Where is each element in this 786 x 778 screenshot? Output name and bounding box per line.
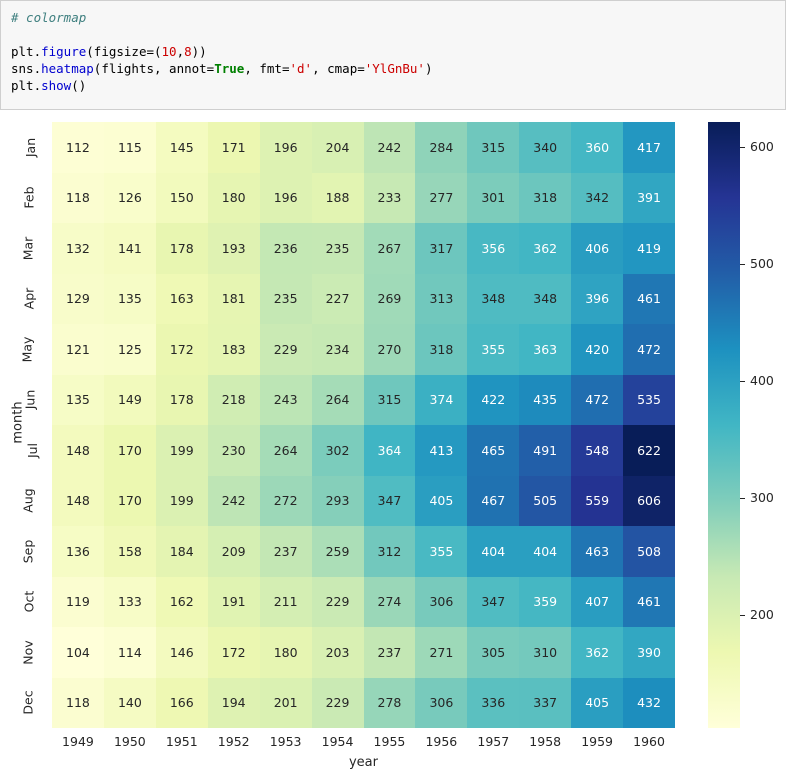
- heatmap-cell: 356: [467, 223, 519, 274]
- heatmap-cell: 121: [52, 324, 104, 375]
- heatmap-cell: 559: [571, 476, 623, 527]
- y-tick-jun: Jun: [0, 375, 46, 426]
- colorbar-tick-label: 400: [750, 375, 774, 388]
- colorbar-tick-label: 600: [750, 141, 774, 154]
- heatmap-cell: 145: [156, 122, 208, 173]
- heatmap-cell: 548: [571, 425, 623, 476]
- heatmap-cell: 243: [260, 375, 312, 426]
- heatmap-cell: 115: [104, 122, 156, 173]
- heatmap-cell: 270: [364, 324, 416, 375]
- heatmap-cell: 209: [208, 526, 260, 577]
- colorbar-tick-label: 500: [750, 258, 774, 271]
- heatmap-cell: 310: [519, 627, 571, 678]
- heatmap-cell: 211: [260, 577, 312, 628]
- heatmap-cell: 405: [571, 678, 623, 729]
- heatmap-cell: 340: [519, 122, 571, 173]
- heatmap-cell: 463: [571, 526, 623, 577]
- heatmap-cell: 140: [104, 678, 156, 729]
- heatmap-cell: 301: [467, 173, 519, 224]
- heatmap-cell: 199: [156, 476, 208, 527]
- flights-args-token: (flights, annot=: [94, 61, 214, 76]
- x-tick-1954: 1954: [312, 730, 364, 752]
- y-tick-mar: Mar: [0, 223, 46, 274]
- heatmap-cell: 236: [260, 223, 312, 274]
- heatmap-cell: 355: [467, 324, 519, 375]
- heatmap-cell: 413: [415, 425, 467, 476]
- sns-prefix-token: sns.: [11, 61, 41, 76]
- heatmap-cell: 467: [467, 476, 519, 527]
- heatmap-cell: 272: [260, 476, 312, 527]
- heatmap-cell: 178: [156, 375, 208, 426]
- heatmap-cell: 193: [208, 223, 260, 274]
- heatmap-cell: 126: [104, 173, 156, 224]
- code-line-comment: # colormap: [11, 9, 785, 26]
- y-tick-label: Jun: [23, 390, 38, 410]
- heatmap-function-token: heatmap: [41, 61, 94, 76]
- code-line-show: plt.show(): [11, 77, 785, 94]
- heatmap-cell: 317: [415, 223, 467, 274]
- heatmap-cell: 406: [571, 223, 623, 274]
- heatmap-cell: 264: [312, 375, 364, 426]
- comma-token: ,: [177, 44, 185, 59]
- heatmap-cell: 461: [623, 274, 675, 325]
- comment-token: # colormap: [11, 10, 86, 25]
- figsize-open-token: (figsize=(: [86, 44, 161, 59]
- plt-prefix-token-2: plt.: [11, 78, 41, 93]
- heatmap-cell: 191: [208, 577, 260, 628]
- heatmap-cell: 269: [364, 274, 416, 325]
- heatmap-cell: 119: [52, 577, 104, 628]
- heatmap-cell: 277: [415, 173, 467, 224]
- heatmap-cell: 201: [260, 678, 312, 729]
- show-function-token: show: [41, 78, 71, 93]
- x-tick-1949: 1949: [52, 730, 104, 752]
- heatmap-cell: 360: [571, 122, 623, 173]
- heatmap-cell: 267: [364, 223, 416, 274]
- colorbar-tick-mark: [740, 147, 745, 148]
- heatmap-cell: 148: [52, 425, 104, 476]
- y-tick-label: Dec: [20, 691, 35, 715]
- heatmap-cell: 465: [467, 425, 519, 476]
- heatmap-cell: 158: [104, 526, 156, 577]
- heatmap-cell: 227: [312, 274, 364, 325]
- heatmap-cell: 235: [312, 223, 364, 274]
- code-line-blank: [11, 26, 785, 43]
- heatmap-cell: 505: [519, 476, 571, 527]
- heatmap-cell: 229: [312, 577, 364, 628]
- heatmap-cell: 405: [415, 476, 467, 527]
- heatmap-cell: 337: [519, 678, 571, 729]
- heatmap-cell: 129: [52, 274, 104, 325]
- heatmap-cell: 472: [623, 324, 675, 375]
- heatmap-cell: 196: [260, 173, 312, 224]
- heatmap-cell: 606: [623, 476, 675, 527]
- heatmap-cell: 390: [623, 627, 675, 678]
- heatmap-cell: 125: [104, 324, 156, 375]
- heatmap-cell: 181: [208, 274, 260, 325]
- heatmap-cell: 166: [156, 678, 208, 729]
- x-tick-1958: 1958: [519, 730, 571, 752]
- heatmap-cell: 293: [312, 476, 364, 527]
- y-tick-feb: Feb: [0, 173, 46, 224]
- heatmap-cell: 235: [260, 274, 312, 325]
- plt-prefix-token: plt.: [11, 44, 41, 59]
- y-tick-jan: Jan: [0, 122, 46, 173]
- heatmap-cell: 535: [623, 375, 675, 426]
- heatmap-cell: 348: [519, 274, 571, 325]
- heatmap-cell: 313: [415, 274, 467, 325]
- heatmap-cell: 229: [260, 324, 312, 375]
- heatmap-cell: 435: [519, 375, 571, 426]
- heatmap-cell: 242: [364, 122, 416, 173]
- heatmap-cell: 178: [156, 223, 208, 274]
- x-tick-1952: 1952: [208, 730, 260, 752]
- heatmap-cell: 196: [260, 122, 312, 173]
- heatmap-grid: 1121151451711962042422843153403604171181…: [52, 122, 675, 728]
- x-tick-1950: 1950: [104, 730, 156, 752]
- heatmap-cell: 104: [52, 627, 104, 678]
- heatmap-cell: 461: [623, 577, 675, 628]
- heatmap-cell: 347: [364, 476, 416, 527]
- heatmap-cell: 118: [52, 173, 104, 224]
- heatmap-cell: 278: [364, 678, 416, 729]
- heatmap-cell: 422: [467, 375, 519, 426]
- heatmap-cell: 318: [415, 324, 467, 375]
- heatmap-cell: 162: [156, 577, 208, 628]
- y-tick-may: May: [0, 324, 46, 375]
- y-tick-labels: JanFebMarAprMayJunJulAugSepOctNovDec: [0, 122, 46, 728]
- heatmap-cell: 396: [571, 274, 623, 325]
- heatmap-cell: 363: [519, 324, 571, 375]
- y-tick-oct: Oct: [0, 577, 46, 628]
- heatmap-cell: 407: [571, 577, 623, 628]
- heatmap-cell: 233: [364, 173, 416, 224]
- fmt-value-token: 'd': [289, 61, 312, 76]
- heatmap-cell: 180: [208, 173, 260, 224]
- heatmap-cell: 355: [415, 526, 467, 577]
- fmt-arg-token: , fmt=: [244, 61, 289, 76]
- heatmap-cell: 148: [52, 476, 104, 527]
- heatmap-cell: 274: [364, 577, 416, 628]
- heatmap-cell: 203: [312, 627, 364, 678]
- number-eight-token: 8: [184, 44, 192, 59]
- y-tick-dec: Dec: [0, 678, 46, 729]
- heatmap-cell: 432: [623, 678, 675, 729]
- heatmap-cell: 118: [52, 678, 104, 729]
- heatmap-cell: 194: [208, 678, 260, 729]
- heatmap-cell: 417: [623, 122, 675, 173]
- code-cell[interactable]: # colormap plt.figure(figsize=(10,8)) sn…: [0, 0, 786, 110]
- colorbar-tick-mark: [740, 615, 745, 616]
- heatmap-cell: 305: [467, 627, 519, 678]
- heatmap-cell: 359: [519, 577, 571, 628]
- y-tick-label: May: [20, 336, 35, 362]
- x-tick-1951: 1951: [156, 730, 208, 752]
- code-line-figure: plt.figure(figsize=(10,8)): [11, 43, 785, 60]
- true-keyword-token: True: [214, 61, 244, 76]
- heatmap-cell: 312: [364, 526, 416, 577]
- heatmap-cell: 242: [208, 476, 260, 527]
- number-ten-token: 10: [162, 44, 177, 59]
- y-tick-label: Apr: [22, 288, 37, 310]
- heatmap-cell: 315: [467, 122, 519, 173]
- heatmap-cell: 302: [312, 425, 364, 476]
- heatmap-cell: 135: [52, 375, 104, 426]
- y-tick-nov: Nov: [0, 627, 46, 678]
- heatmap-cell: 472: [571, 375, 623, 426]
- heatmap-cell: 112: [52, 122, 104, 173]
- heatmap-figure: month JanFebMarAprMayJunJulAugSepOctNovD…: [0, 110, 786, 778]
- heatmap-cell: 234: [312, 324, 364, 375]
- heatmap-cell: 172: [208, 627, 260, 678]
- heatmap-cell: 622: [623, 425, 675, 476]
- heatmap-cell: 237: [260, 526, 312, 577]
- heatmap-cell: 348: [467, 274, 519, 325]
- x-axis-label: year: [52, 755, 675, 770]
- heatmap-cell: 183: [208, 324, 260, 375]
- heatmap-cell: 318: [519, 173, 571, 224]
- heatmap-cell: 271: [415, 627, 467, 678]
- y-tick-label: Aug: [20, 489, 35, 513]
- heatmap-cell: 133: [104, 577, 156, 628]
- heatmap-cell: 391: [623, 173, 675, 224]
- heatmap-cell: 171: [208, 122, 260, 173]
- heatmap-cell: 170: [104, 425, 156, 476]
- heatmap-cell: 315: [364, 375, 416, 426]
- colorbar-tick-mark: [740, 264, 745, 265]
- cmap-value-token: 'YlGnBu': [365, 61, 425, 76]
- heatmap-cell: 218: [208, 375, 260, 426]
- x-tick-1955: 1955: [364, 730, 416, 752]
- heatmap-cell: 364: [364, 425, 416, 476]
- close-parens-token: )): [192, 44, 207, 59]
- colorbar-tick-label: 200: [750, 609, 774, 622]
- figure-function-token: figure: [41, 44, 86, 59]
- heatmap-cell: 508: [623, 526, 675, 577]
- code-line-heatmap: sns.heatmap(flights, annot=True, fmt='d'…: [11, 60, 785, 77]
- heatmap-cell: 204: [312, 122, 364, 173]
- x-tick-1957: 1957: [467, 730, 519, 752]
- x-tick-1956: 1956: [415, 730, 467, 752]
- x-tick-labels: 1949195019511952195319541955195619571958…: [52, 730, 675, 752]
- heatmap-cell: 136: [52, 526, 104, 577]
- heatmap-cell: 237: [364, 627, 416, 678]
- heatmap-cell: 132: [52, 223, 104, 274]
- y-tick-label: Oct: [22, 591, 37, 613]
- heatmap-cell: 163: [156, 274, 208, 325]
- heatmap-cell: 170: [104, 476, 156, 527]
- heatmap-cell: 264: [260, 425, 312, 476]
- y-tick-label: Jul: [25, 443, 40, 458]
- heatmap-cell: 491: [519, 425, 571, 476]
- heatmap-cell: 229: [312, 678, 364, 729]
- y-tick-label: Sep: [21, 539, 36, 563]
- colorbar-gradient: [708, 122, 740, 728]
- heatmap-cell: 184: [156, 526, 208, 577]
- heatmap-cell: 259: [312, 526, 364, 577]
- heatmap-cell: 114: [104, 627, 156, 678]
- heatmap-cell: 306: [415, 577, 467, 628]
- heatmap-cell: 362: [571, 627, 623, 678]
- y-tick-apr: Apr: [0, 274, 46, 325]
- x-tick-1960: 1960: [623, 730, 675, 752]
- heatmap-cell: 230: [208, 425, 260, 476]
- heatmap-cell: 141: [104, 223, 156, 274]
- heatmap-cell: 284: [415, 122, 467, 173]
- cmap-arg-token: , cmap=: [312, 61, 365, 76]
- heatmap-cell: 419: [623, 223, 675, 274]
- heatmap-cell: 404: [467, 526, 519, 577]
- heatmap-cell: 172: [156, 324, 208, 375]
- y-tick-sep: Sep: [0, 526, 46, 577]
- y-tick-label: Jan: [23, 138, 38, 157]
- x-tick-1959: 1959: [571, 730, 623, 752]
- heatmap-cell: 336: [467, 678, 519, 729]
- heatmap-cell: 199: [156, 425, 208, 476]
- colorbar-tick-mark: [740, 498, 745, 499]
- close-paren-token: ): [425, 61, 433, 76]
- y-tick-label: Feb: [21, 187, 36, 209]
- heatmap-cell: 342: [571, 173, 623, 224]
- y-tick-aug: Aug: [0, 476, 46, 527]
- heatmap-cell: 420: [571, 324, 623, 375]
- heatmap-cell: 135: [104, 274, 156, 325]
- heatmap-cell: 188: [312, 173, 364, 224]
- empty-parens-token: (): [71, 78, 86, 93]
- colorbar-ticks: 200300400500600: [740, 122, 786, 728]
- heatmap-cell: 180: [260, 627, 312, 678]
- heatmap-cell: 347: [467, 577, 519, 628]
- heatmap-cell: 149: [104, 375, 156, 426]
- heatmap-cell: 374: [415, 375, 467, 426]
- y-tick-label: Mar: [21, 236, 36, 260]
- heatmap-cell: 150: [156, 173, 208, 224]
- y-tick-jul: Jul: [0, 425, 46, 476]
- y-tick-label: Nov: [20, 640, 35, 664]
- colorbar: 200300400500600: [708, 122, 740, 728]
- colorbar-tick-label: 300: [750, 492, 774, 505]
- heatmap-cell: 146: [156, 627, 208, 678]
- heatmap-cell: 306: [415, 678, 467, 729]
- colorbar-tick-mark: [740, 381, 745, 382]
- heatmap-cell: 404: [519, 526, 571, 577]
- x-tick-1953: 1953: [260, 730, 312, 752]
- heatmap-cell: 362: [519, 223, 571, 274]
